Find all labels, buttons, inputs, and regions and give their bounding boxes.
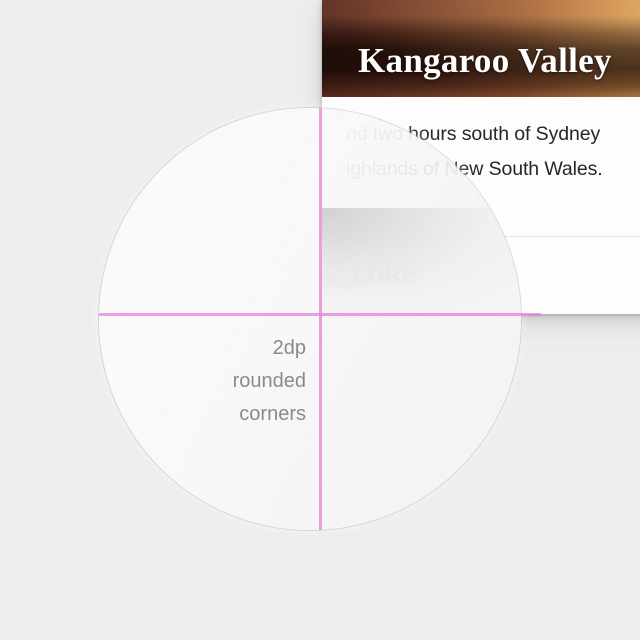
annotation-line-2: rounded <box>106 365 306 398</box>
card-actions: LORE <box>322 237 640 314</box>
card-body: nd two hours south of Sydney ighlands of… <box>322 97 640 187</box>
card-title: Kangaroo Valley <box>358 41 612 81</box>
kangaroo-valley-card[interactable]: Kangaroo Valley nd two hours south of Sy… <box>322 0 640 314</box>
card-body-line-2: ighlands of New South Wales. <box>346 152 640 187</box>
card-media-image: Kangaroo Valley <box>322 0 640 97</box>
annotation-line-1: 2dp <box>106 332 306 365</box>
card-body-line-1: nd two hours south of Sydney <box>346 117 640 152</box>
annotation-rounded-corners: 2dp rounded corners <box>106 332 306 431</box>
screenshot-stage: Kangaroo Valley nd two hours south of Sy… <box>0 0 640 640</box>
annotation-line-3: corners <box>106 398 306 431</box>
explore-button[interactable]: LORE <box>346 254 425 298</box>
